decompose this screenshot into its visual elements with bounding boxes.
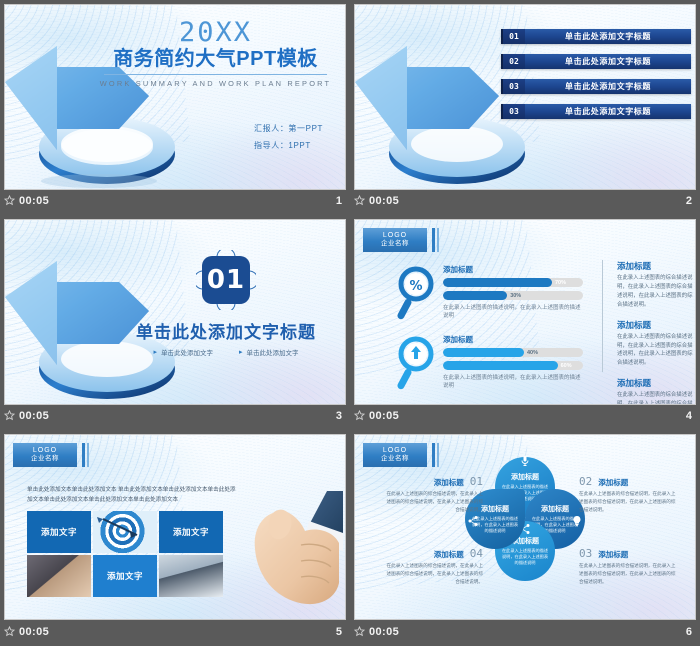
stat-unit: 添加标题 40% 60% 在此录入上述图表的描述说明，在此录入上述图表的描述说明 [393,334,583,396]
section-body: 在此录入上述图表的综合描述说明，在此录入上述图表的综合描述说明，在此录入上述图表… [617,274,695,310]
section-heading: 添加标题 [617,260,695,272]
stat-body: 添加标题 40% 60% 在此录入上述图表的描述说明，在此录入上述图表的描述说明 [443,334,583,391]
slide-footer-3: 00:05 3 [0,401,350,430]
timer: 00:05 [4,195,49,207]
slide-footer-4: 00:05 4 [350,401,700,430]
agenda-item[interactable]: 03 单击此处添加文字标题 [501,104,691,119]
star-icon [4,410,15,421]
logo-box: LOGO 企业名称 [363,228,427,252]
caption-number: 04 [470,547,483,560]
star-icon [354,410,365,421]
slide-3[interactable]: 01 单击此处添加文字标题 单击此处添加文字 单击此处添加文字 [4,219,346,405]
page-number: 1 [336,195,342,207]
slide-4[interactable]: LOGO 企业名称 % 添加标题 [354,219,696,405]
logo-accent-bars [432,443,439,467]
progress-fill [443,361,558,370]
section-number: 01 [196,250,256,310]
svg-text:%: % [409,279,422,294]
petal-title: 添加标题 [481,504,509,514]
tile-label: 添加文字 [107,570,143,582]
microphone-icon [519,455,531,467]
main-title: 商务简约大气PPT模板 [98,48,333,71]
stat-note: 在此录入上述图表的描述说明，在此录入上述图表的描述说明 [443,304,583,321]
agenda-item[interactable]: 03 单击此处添加文字标题 [501,79,691,94]
tile-text[interactable]: 添加文字 [93,555,157,597]
tile-photo-pen[interactable] [27,555,91,597]
page-number: 4 [686,410,692,422]
star-icon [4,626,15,637]
timer: 00:05 [354,410,399,422]
caption-number: 02 [579,475,592,488]
petal-body: 在此录入上述图表的描述说明，在此录入上述图表的描述说明 [471,516,519,534]
company-name: 企业名称 [381,240,409,247]
company-name: 企业名称 [31,455,59,462]
caption-04: 添加标题 04 在此录入上述图表的综合描述说明，在此录入上述图表的综合描述说明，… [385,547,483,585]
description-section: 添加标题 在此录入上述图表的综合描述说明，在此录入上述图表的综合描述说明，在此录… [617,319,695,369]
progress-fill [443,348,524,357]
caption-01: 添加标题 01 在此录入上述图表的综合描述说明，在此录入上述图表的综合描述说明，… [385,475,483,513]
slide-cell-3[interactable]: 01 单击此处添加文字标题 单击此处添加文字 单击此处添加文字 00:05 3 [0,215,350,430]
timer: 00:05 [354,195,399,207]
progress-value: 70% [555,278,566,287]
logo-header[interactable]: LOGO 企业名称 [363,443,439,467]
progress-bar: 60% [443,361,583,370]
tile-photo-target[interactable] [93,511,157,553]
slide-1[interactable]: 20XX 商务简约大气PPT模板 WORK SUMMARY AND WORK P… [4,4,346,190]
slide-footer-5: 00:05 5 [0,617,350,646]
caption-title: 添加标题 [598,549,628,560]
vertical-divider [602,260,603,372]
petal-title: 添加标题 [511,472,539,482]
timer: 00:05 [4,410,49,422]
slide-cell-5[interactable]: LOGO 企业名称 单击此处添加文本单击此处添加文本 单击此处添加文本单击此处添… [0,430,350,646]
agenda-number: 03 [501,104,525,119]
description-column: 添加标题 在此录入上述图表的综合描述说明，在此录入上述图表的综合描述说明，在此录… [617,260,695,405]
thumbs-up-hand-image [231,491,343,613]
agenda-number: 02 [501,54,525,69]
page-number: 5 [336,626,342,638]
section-subitem: 单击此处添加文字 [153,347,213,357]
star-icon [354,195,365,206]
caption-body: 在此录入上述图表的综合描述说明，在此录入上述图表的综合描述说明，在此录入上述图表… [579,562,677,585]
logo-box: LOGO 企业名称 [363,443,427,467]
agenda-number: 01 [501,29,525,44]
tile-text[interactable]: 添加文字 [27,511,91,553]
stat-heading: 添加标题 [443,264,583,275]
stat-heading: 添加标题 [443,334,583,345]
caption-title: 添加标题 [598,477,628,488]
stat-note: 在此录入上述图表的描述说明，在此录入上述图表的描述说明 [443,374,583,391]
progress-bar: 40% [443,348,583,357]
body-paragraph: 单击此处添加文本单击此处添加文本 单击此处添加文本单击此处添加文本单击此处添加文… [27,485,237,506]
slide-footer-6: 00:05 6 [350,617,700,646]
agenda-number: 03 [501,79,525,94]
slide-2[interactable]: 01 单击此处添加文字标题 02 单击此处添加文字标题 03 单击此处添加文字标… [354,4,696,190]
caption-body: 在此录入上述图表的综合描述说明，在此录入上述图表的综合描述说明，在此录入上述图表… [579,490,677,513]
agenda-label: 单击此处添加文字标题 [525,29,691,44]
timer: 00:05 [354,626,399,638]
tile-photo-meeting[interactable] [159,555,223,597]
star-icon [354,626,365,637]
petal-body: 在此录入上述图表的描述说明，在此录入上述图表的描述说明 [501,548,549,566]
slide-5[interactable]: LOGO 企业名称 单击此处添加文本单击此处添加文本 单击此处添加文本单击此处添… [4,434,346,620]
caption-title: 添加标题 [434,549,464,560]
progress-bar: 70% [443,278,583,287]
slide-cell-1[interactable]: 20XX 商务简约大气PPT模板 WORK SUMMARY AND WORK P… [0,0,350,215]
slide-footer-2: 00:05 2 [350,186,700,215]
page-number: 6 [686,626,692,638]
advisor-line: 指导人：1PPT [254,140,323,151]
subtitle: WORK SUMMARY AND WORK PLAN REPORT [98,79,333,88]
dart-arrow-icon [93,511,157,553]
slide-thumbnail-grid: 20XX 商务简约大气PPT模板 WORK SUMMARY AND WORK P… [0,0,700,646]
section-heading: 添加标题 [617,319,695,331]
progress-fill [443,278,552,287]
tile-text[interactable]: 添加文字 [159,511,223,553]
slide-footer-1: 00:05 1 [0,186,350,215]
caption-03: 03 添加标题 在此录入上述图表的综合描述说明，在此录入上述图表的综合描述说明，… [579,547,677,585]
section-heading: 添加标题 [617,377,695,389]
progress-fill [443,291,507,300]
section-header: 01 单击此处添加文字标题 单击此处添加文字 单击此处添加文字 [121,250,331,357]
slide-cell-2[interactable]: 01 单击此处添加文字标题 02 单击此处添加文字标题 03 单击此处添加文字标… [350,0,700,215]
tile-label: 添加文字 [173,526,209,538]
caption-title: 添加标题 [434,477,464,488]
magnifier-percent-icon: % [393,266,439,322]
section-body: 在此录入上述图表的综合描述说明，在此录入上述图表的综合描述说明，在此录入上述图表… [617,333,695,369]
section-number-badge: 01 [196,250,256,310]
caption-number: 03 [579,547,592,560]
slide-6[interactable]: LOGO 企业名称 添加标题 在此录入上述图表的描述说明，在此录入上述图表的描述… [354,434,696,620]
title-block: 20XX 商务简约大气PPT模板 WORK SUMMARY AND WORK P… [98,19,333,88]
timer-value: 00:05 [19,195,49,207]
timer: 00:05 [4,626,49,638]
section-title: 单击此处添加文字标题 [121,318,331,343]
agenda-item[interactable]: 01 单击此处添加文字标题 [501,29,691,44]
title-underline [104,74,327,75]
agenda-list: 01 单击此处添加文字标题 02 单击此处添加文字标题 03 单击此处添加文字标… [501,29,691,129]
section-subitem: 单击此处添加文字 [239,347,299,357]
timer-value: 00:05 [369,195,399,207]
magnifier-stats: % 添加标题 70% 30% 在 [393,264,583,404]
agenda-item[interactable]: 02 单击此处添加文字标题 [501,54,691,69]
agenda-label: 单击此处添加文字标题 [525,104,691,119]
company-name: 企业名称 [381,455,409,462]
caption-number: 01 [470,475,483,488]
tile-grid: 添加文字 添加文字 添加文字 [27,511,223,597]
timer-value: 00:05 [369,626,399,638]
timer-value: 00:05 [19,410,49,422]
page-number: 2 [686,195,692,207]
logo-header[interactable]: LOGO 企业名称 [363,228,439,252]
caption-02: 02 添加标题 在此录入上述图表的综合描述说明，在此录入上述图表的综合描述说明，… [579,475,677,513]
stat-unit: % 添加标题 70% 30% 在 [393,264,583,326]
tile-label: 添加文字 [41,526,77,538]
progress-value: 30% [510,291,521,300]
progress-value: 60% [561,361,572,370]
agenda-label: 单击此处添加文字标题 [525,79,691,94]
progress-bar: 30% [443,291,583,300]
presenter-line: 汇报人：第一PPT [254,123,323,134]
star-icon [4,195,15,206]
section-subitems: 单击此处添加文字 单击此处添加文字 [121,347,331,357]
page-number: 3 [336,410,342,422]
presenter-meta: 汇报人：第一PPT 指导人：1PPT [254,123,323,157]
caption-body: 在此录入上述图表的综合描述说明，在此录入上述图表的综合描述说明，在此录入上述图表… [385,490,483,513]
magnifier-arrow-icon [393,336,439,392]
logo-box: LOGO 企业名称 [13,443,77,467]
logo-header[interactable]: LOGO 企业名称 [13,443,89,467]
agenda-label: 单击此处添加文字标题 [525,54,691,69]
progress-value: 40% [527,348,538,357]
slide-cell-6[interactable]: LOGO 企业名称 添加标题 在此录入上述图表的描述说明，在此录入上述图表的描述… [350,430,700,646]
year-label: 20XX [98,19,333,46]
description-section: 添加标题 在此录入上述图表的综合描述说明，在此录入上述图表的综合描述说明，在此录… [617,260,695,310]
timer-value: 00:05 [369,410,399,422]
stat-body: 添加标题 70% 30% 在此录入上述图表的描述说明，在此录入上述图表的描述说明 [443,264,583,321]
petal-title: 添加标题 [541,504,569,514]
logo-accent-bars [82,443,89,467]
timer-value: 00:05 [19,626,49,638]
caption-body: 在此录入上述图表的综合描述说明，在此录入上述图表的综合描述说明，在此录入上述图表… [385,562,483,585]
slide-cell-4[interactable]: LOGO 企业名称 % 添加标题 [350,215,700,430]
logo-accent-bars [432,228,439,252]
